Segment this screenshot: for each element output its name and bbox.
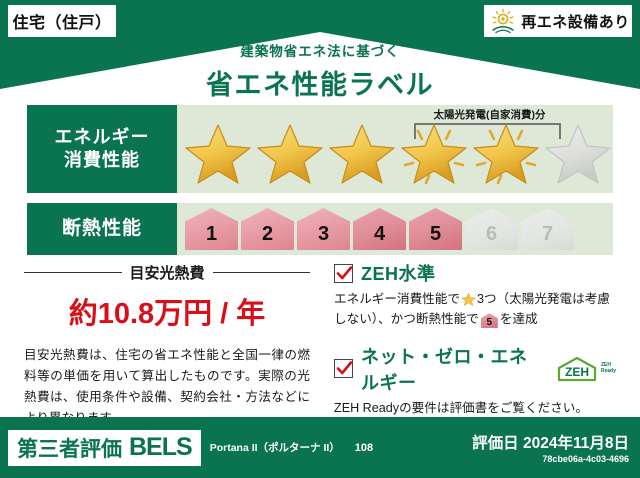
renewable-equipment-badge: 再エネ設備あり [484,5,632,37]
zeh-standard-body-part1: エネルギー消費性能で [334,292,460,306]
energy-rating-body: 太陽光発電(自家消費)分 [177,105,613,193]
label-subtitle: 建築物省エネ法に基づく [0,40,640,60]
evaluation-date-label: 評価日 [472,435,519,452]
insulation-house-4: 4 [353,208,406,250]
energy-label-line1: エネルギー [55,126,150,149]
bels-logo-text: BELS [129,433,192,462]
zeh-standard-checkbox[interactable] [334,264,353,283]
renewable-badge-text: 再エネ設備あり [521,11,630,32]
utility-cost-heading-text: 目安光熱費 [130,262,205,283]
rule-right [213,272,311,273]
property-info: Portana II（ポルターナ II） 108 [210,440,373,455]
star-filled-solar-4 [399,120,469,186]
insulation-level-scale: 1 2 3 4 5 6 7 [177,208,574,250]
bels-plate: 第三者評価 BELS [8,430,201,466]
evaluation-id: 78cbe06a-4c03-4696 [472,454,629,464]
utility-cost-column: 目安光熱費 約10.8万円 / 年 目安光熱費は、住宅の省エネ性能と全国一律の燃… [0,258,330,413]
footer-bar: 第三者評価 BELS Portana II（ポルターナ II） 108 評価日 … [0,417,640,478]
insulation-performance-label: 断熱性能 [27,203,177,255]
zeh-standard-header: ZEH水準 [334,260,616,286]
star-rating [177,120,613,186]
rule-left [24,272,122,273]
insulation-house-6: 6 [465,208,518,250]
star-filled-2 [255,120,325,186]
star-filled-solar-5 [471,120,541,186]
title-block: 建築物省エネ法に基づく 省エネ性能ラベル [0,40,640,102]
net-zero-header: ネット・ゼロ・エネルギー ZEH ZEH Ready [334,343,616,395]
insulation-label-text: 断熱性能 [62,217,142,241]
insulation-performance-row: 断熱性能 1 2 3 4 5 6 7 [27,203,613,255]
insulation-house-1: 1 [185,208,238,250]
utility-cost-heading: 目安光熱費 [24,262,310,283]
unit-number: 108 [355,442,373,454]
net-zero-body: ZEH Readyの要件は評価書をご覧ください。 [334,398,616,418]
net-zero-checkbox[interactable] [334,359,353,378]
lower-content: 目安光熱費 約10.8万円 / 年 目安光熱費は、住宅の省エネ性能と全国一律の燃… [0,258,640,413]
housing-type-text: 住宅（住戸） [12,9,111,33]
zeh-standard-title: ZEH水準 [361,260,436,286]
evaluation-date-value: 2024年11月8日 [523,435,629,452]
insulation-house-3: 3 [297,208,350,250]
inline-star-icon [461,292,476,307]
property-name: Portana II（ポルターナ II） [210,442,340,454]
inline-house-icon: 5 [481,313,498,328]
energy-performance-label: エネルギー 消費性能 [27,105,177,193]
zeh-ready-logo: ZEH ZEH Ready [555,356,616,382]
third-party-eval-text: 第三者評価 [17,433,122,463]
utility-cost-value: 約10.8万円 / 年 [24,290,310,332]
zeh-column: ZEH水準 エネルギー消費性能で3つ（太陽光発電は考慮しない）、かつ断熱性能で5… [330,258,630,413]
insulation-house-2: 2 [241,208,294,250]
housing-type-badge: 住宅（住戸） [8,5,116,37]
net-zero-energy-section: ネット・ゼロ・エネルギー ZEH ZEH Ready ZEH Readyの要件は… [334,343,616,418]
zeh-standard-body-part3: を達成 [500,312,538,326]
star-filled-3 [327,120,397,186]
zeh-sub-line2: Ready [601,368,616,374]
insulation-house-5: 5 [409,208,462,250]
star-empty-6 [543,120,613,186]
evaluation-info: 評価日 2024年11月8日 78cbe06a-4c03-4696 [472,431,629,464]
energy-performance-label: 住宅（住戸） 再エネ設備あり 建 [0,0,640,478]
page-title: 省エネ性能ラベル [0,63,640,102]
star-filled-1 [183,120,253,186]
energy-performance-row: エネルギー 消費性能 太陽光発電(自家消費)分 [27,105,613,193]
svg-text:ZEH: ZEH [565,365,589,379]
net-zero-title: ネット・ゼロ・エネルギー [361,343,543,395]
sun-icon [490,8,516,34]
zeh-standard-body: エネルギー消費性能で3つ（太陽光発電は考慮しない）、かつ断熱性能で5を達成 [334,289,616,330]
insulation-rating-body: 1 2 3 4 5 6 7 [177,203,613,255]
insulation-house-7: 7 [521,208,574,250]
zeh-ready-sublabel: ZEH Ready [601,363,616,375]
evaluation-date: 評価日 2024年11月8日 [472,431,629,453]
energy-label-line2: 消費性能 [64,149,140,172]
